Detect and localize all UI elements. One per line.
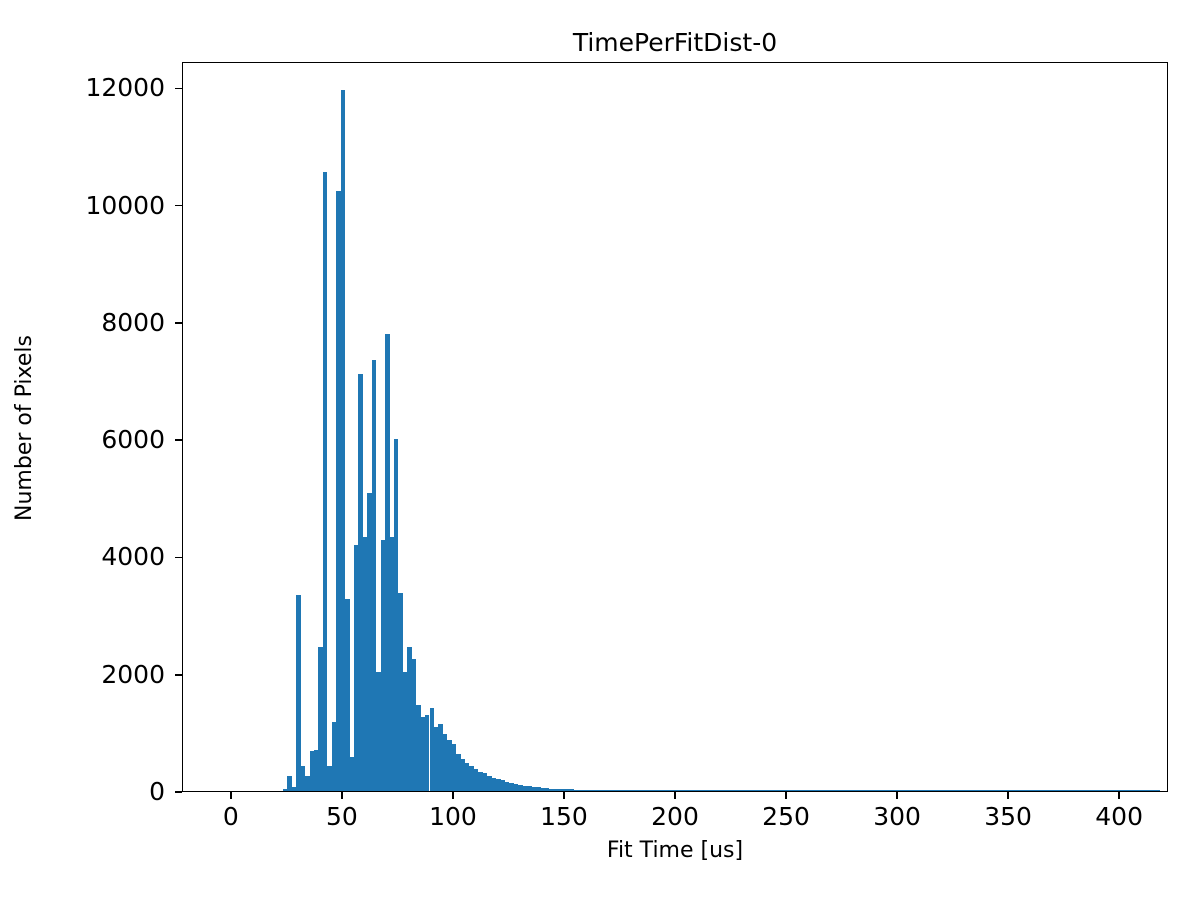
y-tick-mark (175, 439, 182, 441)
x-tick-mark (896, 792, 898, 799)
x-tick-mark (1007, 792, 1009, 799)
histogram-bar (843, 790, 865, 791)
y-tick-mark (175, 205, 182, 207)
histogram-bar (627, 790, 636, 791)
histogram-bar (672, 790, 688, 791)
x-tick-label: 0 (223, 804, 239, 829)
x-tick-label: 350 (984, 804, 1032, 829)
x-tick-label: 200 (651, 804, 699, 829)
plot-area (182, 62, 1168, 792)
histogram-bar (865, 790, 887, 791)
histogram-bar (911, 790, 939, 791)
x-tick-mark (785, 792, 787, 799)
x-tick-mark (563, 792, 565, 799)
histogram-bar (1004, 790, 1037, 791)
x-tick-label: 100 (429, 804, 477, 829)
x-tick-label: 50 (326, 804, 358, 829)
histogram-bar (687, 790, 709, 791)
x-tick-label: 250 (762, 804, 810, 829)
matplotlib-figure: TimePerFitDist-0 02000400060008000100001… (0, 0, 1200, 900)
histogram-bar (663, 790, 672, 791)
histogram-bar (654, 790, 663, 791)
histogram-bar (970, 790, 1003, 791)
histogram-bar (776, 790, 798, 791)
x-tick-mark (230, 792, 232, 799)
x-axis-label: Fit Time [us] (182, 838, 1168, 864)
histogram-bar (618, 790, 627, 791)
x-tick-label: 400 (1095, 804, 1143, 829)
histogram-bar (567, 789, 574, 791)
histogram-bar (609, 790, 618, 791)
histogram-bar (645, 790, 654, 791)
histogram-bar (583, 790, 592, 791)
y-tick-mark (175, 557, 182, 559)
page-title: TimePerFitDist-0 (182, 28, 1168, 58)
histogram-bar (820, 790, 842, 791)
x-tick-mark (1118, 792, 1120, 799)
histogram-bar (709, 790, 731, 791)
y-tick-mark (175, 791, 182, 793)
x-tick-mark (341, 792, 343, 799)
histogram-bar (600, 790, 609, 791)
x-tick-mark (452, 792, 454, 799)
histogram-bar (1103, 790, 1133, 791)
y-tick-mark (175, 674, 182, 676)
histogram-bar (592, 790, 601, 791)
histogram-bar (1133, 790, 1160, 791)
histogram-bar (732, 790, 754, 791)
y-tick-mark (175, 322, 182, 324)
histogram-bar (323, 172, 327, 791)
histogram-bar (887, 790, 911, 791)
x-tick-label: 150 (540, 804, 588, 829)
y-axis-label: Number of Pixels (12, 328, 38, 528)
histogram-bar (939, 790, 970, 791)
histogram-bar (798, 790, 820, 791)
histogram-bars (183, 63, 1167, 791)
y-tick-mark (175, 88, 182, 90)
histogram-bar (296, 595, 300, 791)
histogram-bar (574, 790, 583, 791)
histogram-bar (1037, 790, 1070, 791)
histogram-bar (636, 790, 645, 791)
x-tick-mark (674, 792, 676, 799)
y-axis-label-wrapper: Number of Pixels (0, 0, 50, 900)
histogram-bar (754, 790, 776, 791)
x-tick-label: 300 (873, 804, 921, 829)
histogram-bar (1070, 790, 1103, 791)
